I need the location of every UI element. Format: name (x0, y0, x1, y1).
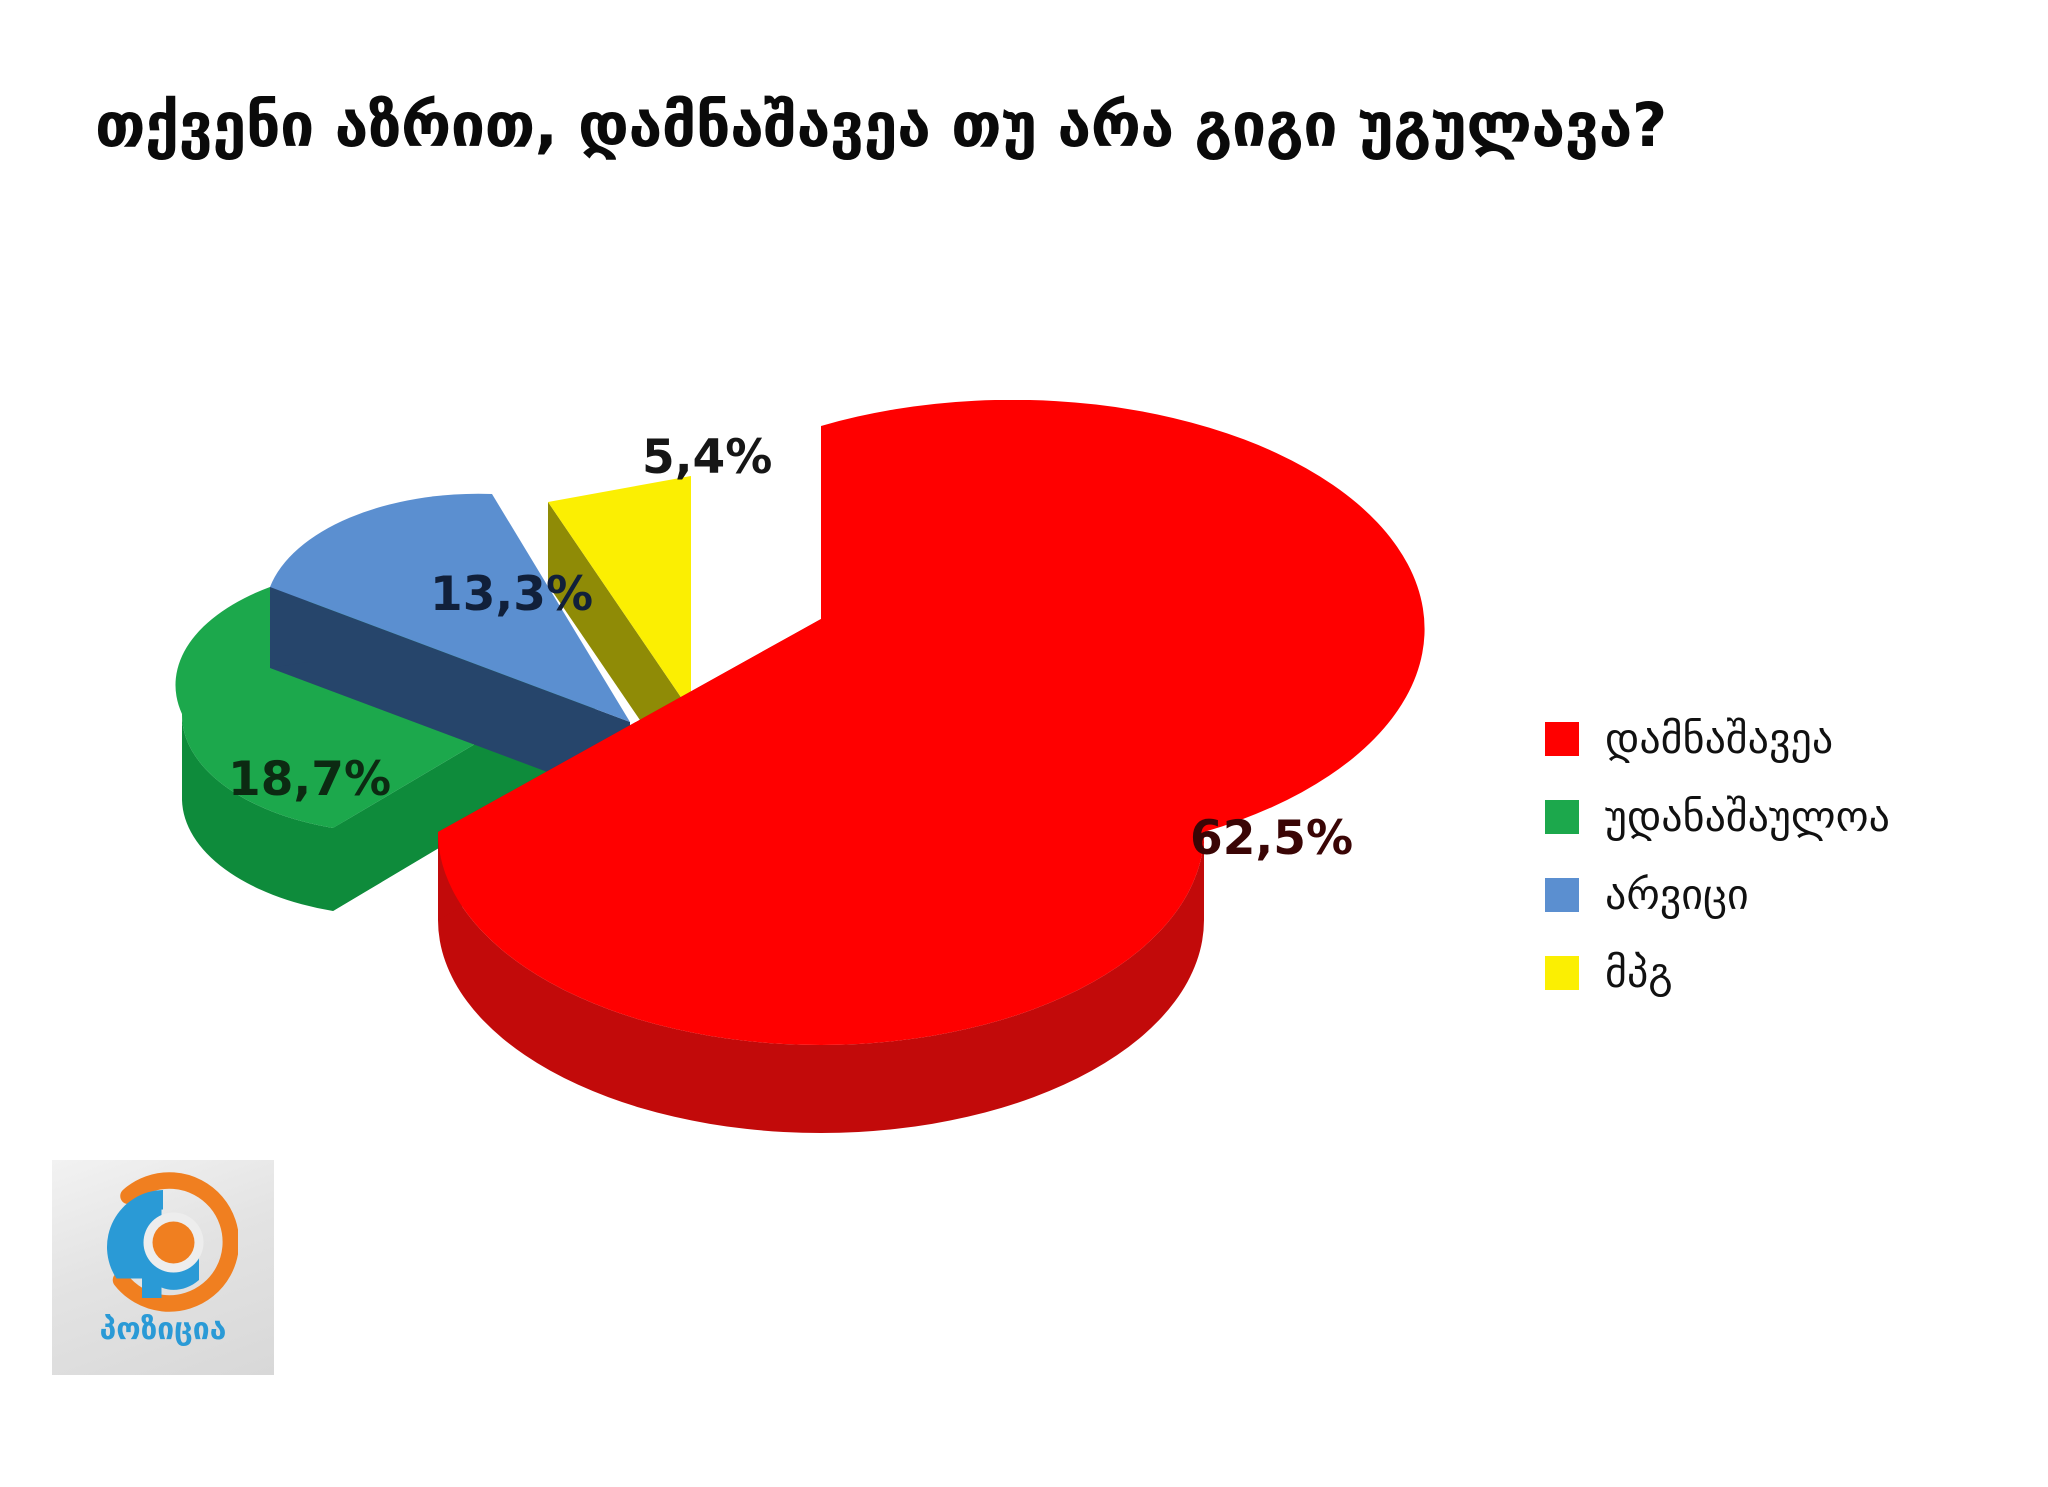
legend-swatch-blue (1545, 878, 1579, 912)
slide-canvas: თქვენი აზრით, დამნაშავეა თუ არა გიგი უგუ… (0, 0, 2048, 1487)
pie-chart-svg (140, 400, 1520, 1160)
legend-label-udanashauloa: უდანაშაულოა (1605, 796, 1890, 838)
logo-orange-dot (153, 1222, 195, 1264)
logo-wordmark: პოზიცია (52, 1315, 274, 1345)
legend-item-damnashavea[interactable]: დამნაშავეა (1545, 700, 1985, 778)
pozitsia-logo-mark (88, 1172, 238, 1322)
legend-label-damnashavea: დამნაშავეა (1605, 718, 1833, 760)
legend-label-arvitsi: არვიცი (1605, 874, 1749, 916)
legend-label-mpg: მპგ (1605, 952, 1673, 994)
chart-legend: დამნაშავეა უდანაშაულოა არვიცი მპგ (1545, 700, 1985, 1012)
legend-swatch-yellow (1545, 956, 1579, 990)
legend-item-udanashauloa[interactable]: უდანაშაულოა (1545, 778, 1985, 856)
legend-swatch-green (1545, 800, 1579, 834)
pozitsia-logo[interactable]: პოზიცია (52, 1160, 274, 1375)
legend-item-arvitsi[interactable]: არვიცი (1545, 856, 1985, 934)
page-title: თქვენი აზრით, დამნაშავეა თუ არა გიგი უგუ… (95, 92, 1895, 159)
legend-item-mpg[interactable]: მპგ (1545, 934, 1985, 1012)
legend-swatch-red (1545, 722, 1579, 756)
pie-chart (140, 400, 1520, 1160)
